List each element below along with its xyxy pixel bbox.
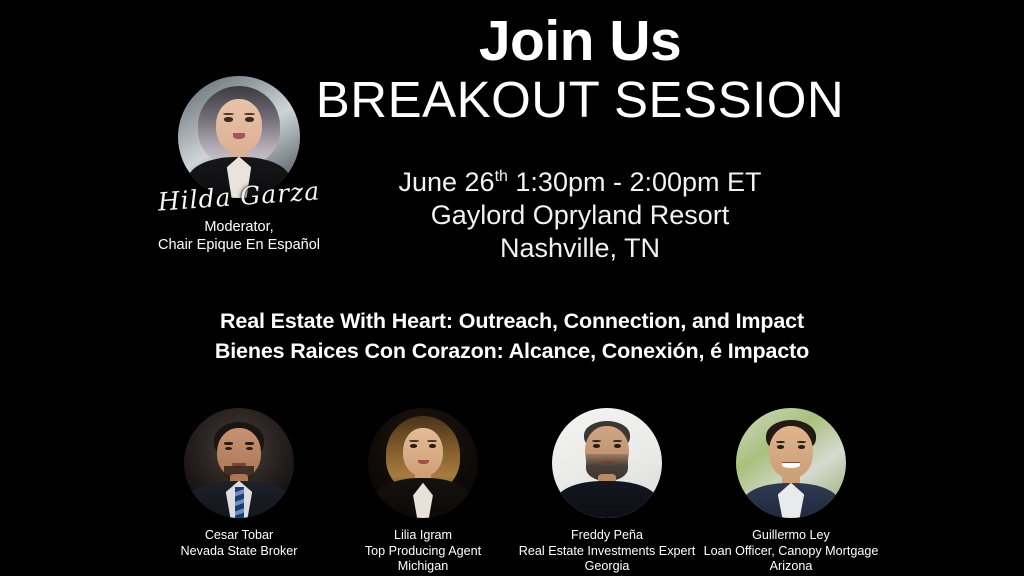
moderator-signature: Hilda Garza bbox=[115, 171, 363, 222]
portrait-eye-left bbox=[224, 117, 233, 121]
speaker-title: Loan Officer, Canopy Mortgage bbox=[702, 544, 880, 560]
headline-join-us: Join Us bbox=[280, 10, 880, 72]
poster-headline: Join Us BREAKOUT SESSION bbox=[280, 10, 880, 128]
speaker-caption: Guillermo Ley Loan Officer, Canopy Mortg… bbox=[702, 528, 880, 575]
event-datetime: June 26th 1:30pm - 2:00pm ET bbox=[300, 166, 860, 199]
speaker-photo bbox=[552, 408, 662, 518]
speaker-name: Freddy Peña bbox=[518, 528, 696, 544]
speaker-row: Cesar Tobar Nevada State Broker bbox=[150, 408, 880, 575]
session-title-block: Real Estate With Heart: Outreach, Connec… bbox=[92, 306, 932, 366]
lilia-igram-portrait bbox=[368, 408, 478, 518]
speaker-title: Nevada State Broker bbox=[150, 544, 328, 560]
speaker-title: Real Estate Investments Expert bbox=[518, 544, 696, 560]
speaker-name: Lilia Igram bbox=[334, 528, 512, 544]
speaker-location: Arizona bbox=[702, 559, 880, 575]
event-poster: Join Us BREAKOUT SESSION June 26th 1:30p… bbox=[0, 0, 1024, 576]
speaker-lilia-igram: Lilia Igram Top Producing Agent Michigan bbox=[334, 408, 512, 575]
moderator-block: Hilda Garza Moderator, Chair Epique En E… bbox=[116, 76, 362, 254]
portrait-brow-left bbox=[224, 442, 234, 444]
portrait-eye-right bbox=[245, 117, 254, 121]
session-title-spanish: Bienes Raices Con Corazon: Alcance, Cone… bbox=[92, 336, 932, 366]
guillermo-ley-portrait bbox=[736, 408, 846, 518]
speaker-photo bbox=[368, 408, 478, 518]
event-time: 1:30pm - 2:00pm ET bbox=[508, 167, 762, 197]
headline-breakout-session: BREAKOUT SESSION bbox=[280, 72, 880, 128]
cesar-tobar-portrait bbox=[184, 408, 294, 518]
portrait-face bbox=[403, 428, 443, 476]
speaker-name: Guillermo Ley bbox=[702, 528, 880, 544]
speaker-caption: Lilia Igram Top Producing Agent Michigan bbox=[334, 528, 512, 575]
portrait-face bbox=[216, 99, 262, 153]
portrait-mouth bbox=[602, 461, 613, 465]
speaker-name: Cesar Tobar bbox=[150, 528, 328, 544]
speaker-guillermo-ley: Guillermo Ley Loan Officer, Canopy Mortg… bbox=[702, 408, 880, 575]
portrait-mouth bbox=[782, 462, 800, 468]
portrait-necktie bbox=[235, 487, 245, 518]
event-details: June 26th 1:30pm - 2:00pm ET Gaylord Opr… bbox=[300, 166, 860, 265]
speaker-photo bbox=[184, 408, 294, 518]
speaker-caption: Cesar Tobar Nevada State Broker bbox=[150, 528, 328, 559]
moderator-role-line-1: Moderator, bbox=[116, 218, 362, 236]
moderator-role-line-2: Chair Epique En Español bbox=[116, 236, 362, 254]
event-date-ordinal: th bbox=[495, 168, 508, 185]
event-city: Nashville, TN bbox=[300, 232, 860, 265]
event-venue: Gaylord Opryland Resort bbox=[300, 199, 860, 232]
speaker-caption: Freddy Peña Real Estate Investments Expe… bbox=[518, 528, 696, 575]
event-date: June 26 bbox=[398, 167, 494, 197]
moderator-role: Moderator, Chair Epique En Español bbox=[116, 218, 362, 254]
portrait-eye-right bbox=[429, 444, 437, 448]
speaker-location: Georgia bbox=[518, 559, 696, 575]
speaker-location: Michigan bbox=[334, 559, 512, 575]
speaker-title: Top Producing Agent bbox=[334, 544, 512, 560]
portrait-brow-right bbox=[245, 442, 255, 444]
speaker-cesar-tobar: Cesar Tobar Nevada State Broker bbox=[150, 408, 328, 559]
freddy-pena-portrait bbox=[552, 408, 662, 518]
portrait-body bbox=[556, 481, 657, 518]
speaker-photo bbox=[736, 408, 846, 518]
session-title-english: Real Estate With Heart: Outreach, Connec… bbox=[92, 306, 932, 336]
portrait-mouth bbox=[233, 133, 245, 138]
portrait-face bbox=[769, 426, 813, 479]
speaker-freddy-pena: Freddy Peña Real Estate Investments Expe… bbox=[518, 408, 696, 575]
